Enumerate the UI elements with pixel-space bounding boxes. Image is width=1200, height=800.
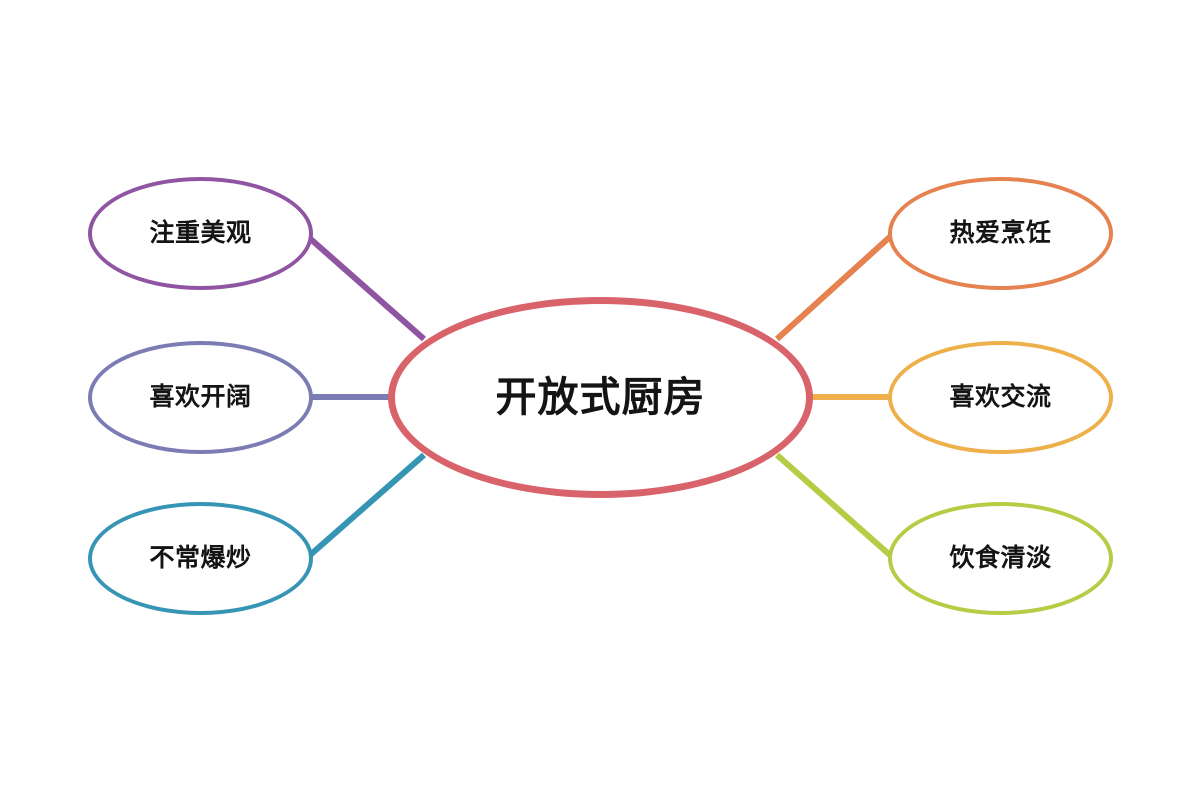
node-zhuzhong-meiguan[interactable]: 注重美观 [88,177,313,290]
node-xihuan-kaikuo[interactable]: 喜欢开阔 [88,341,313,454]
edge-buchang-baochao [309,455,424,556]
node-label: 饮食清淡 [949,546,1051,571]
node-xihuan-jiaoliu[interactable]: 喜欢交流 [888,341,1113,454]
node-label: 热爱烹饪 [949,221,1051,246]
node-label: 注重美观 [149,221,251,246]
edge-yinshi-qingdan [777,455,891,556]
node-central-kaifangshi-chufang[interactable]: 开放式厨房 [388,297,813,498]
mindmap-canvas: 注重美观 喜欢开阔 不常爆炒 开放式厨房 热爱烹饪 喜欢交流 饮食清淡 [0,0,1200,800]
node-label: 喜欢开阔 [149,385,251,410]
central-node-label: 开放式厨房 [496,377,706,418]
node-yinshi-qingdan[interactable]: 饮食清淡 [888,502,1113,615]
edge-reai-pengren [777,235,892,339]
node-buchang-baochao[interactable]: 不常爆炒 [88,502,313,615]
edge-zhuzhong-meiguan [306,235,424,339]
node-label: 不常爆炒 [149,546,251,571]
node-reai-pengren[interactable]: 热爱烹饪 [888,177,1113,290]
node-label: 喜欢交流 [949,385,1051,410]
